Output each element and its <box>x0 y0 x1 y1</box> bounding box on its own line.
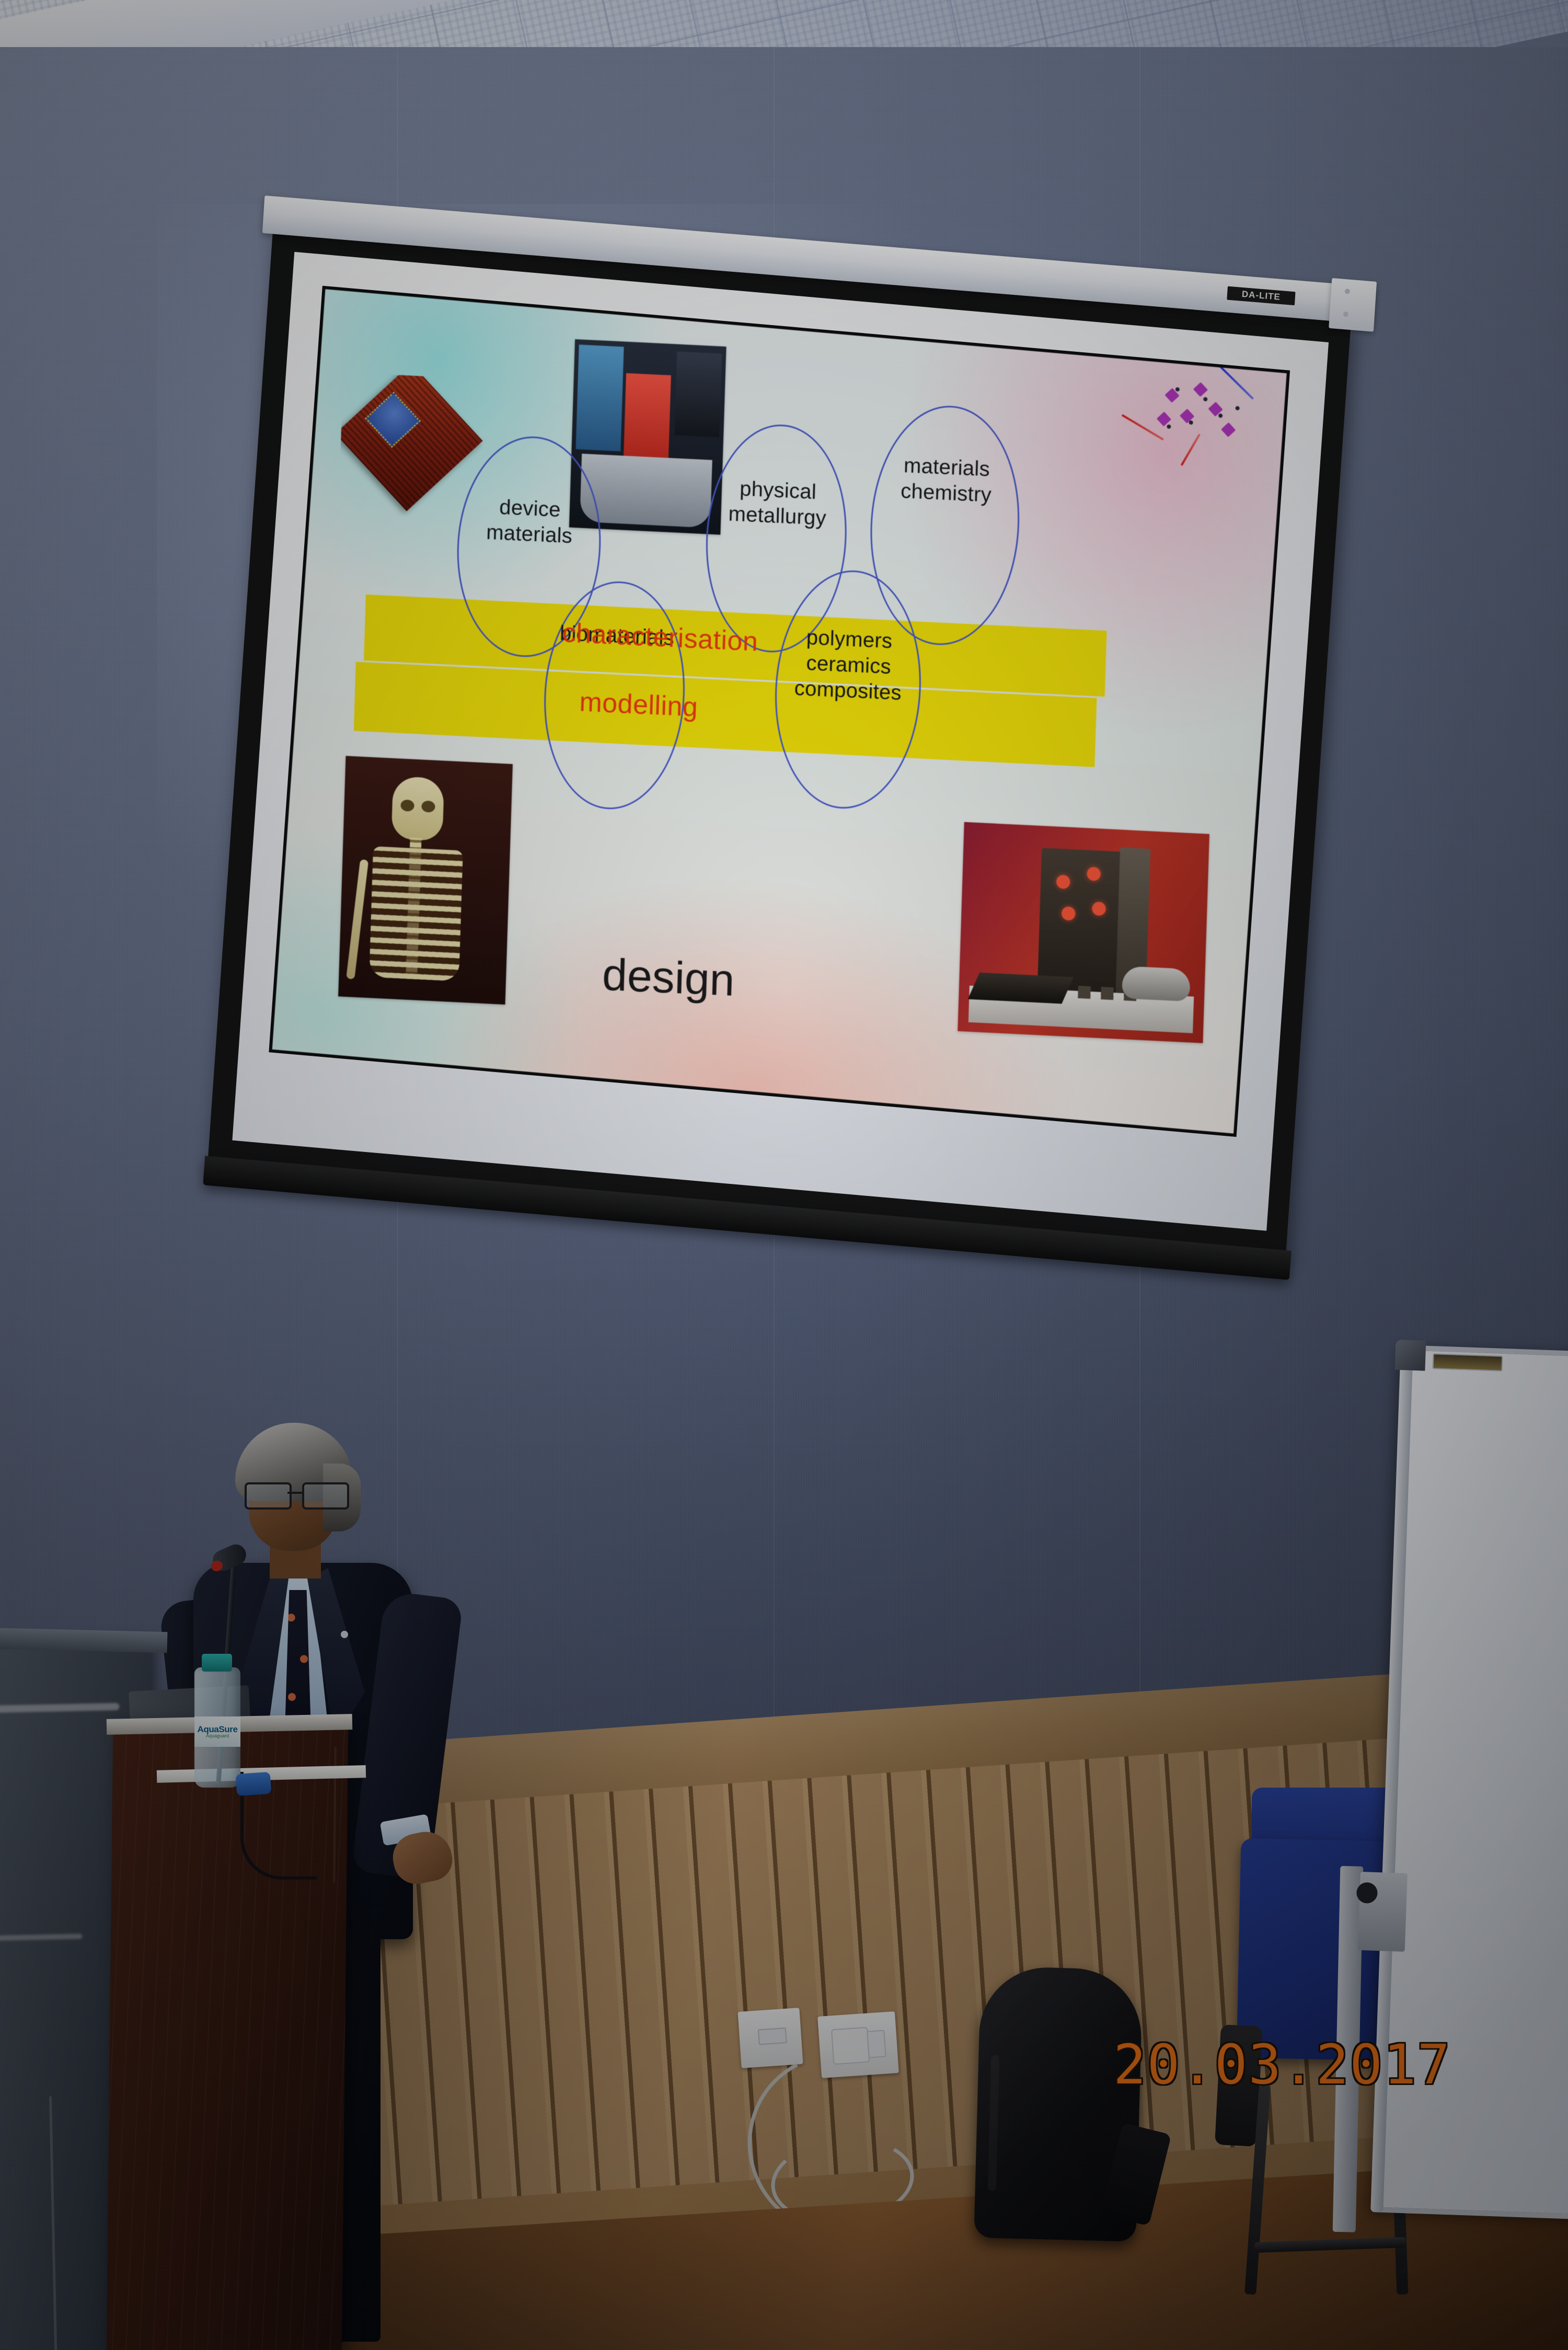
whiteboard-corner-bracket <box>1394 1340 1426 1371</box>
water-bottle-subbrand: Aquaguard <box>206 1734 229 1738</box>
projection-screen-border: device materials physical metallurgy mat… <box>208 227 1351 1254</box>
screen-brand-label: DA-LITE <box>1227 286 1295 306</box>
bubble-label-device-materials: device materials <box>464 493 595 550</box>
water-bottle-brand: AquaSure <box>197 1725 237 1734</box>
screen-housing-end-cap <box>1329 278 1377 332</box>
slide-image-desktop-computer <box>958 822 1209 1043</box>
projection-screen-assembly[interactable]: device materials physical metallurgy mat… <box>200 246 1433 1369</box>
water-bottle-label: AquaSure Aquaguard <box>194 1717 240 1747</box>
side-cabinet-top <box>0 1628 167 1653</box>
band-label-modelling: modelling <box>579 686 698 723</box>
speaker-glasses <box>245 1482 347 1505</box>
camera-date-stamp: 20.03.2017 <box>1113 2037 1451 2092</box>
slide-title-design: design <box>602 949 735 1007</box>
slide-image-skeleton <box>338 756 513 1005</box>
presentation-slide: device materials physical metallurgy mat… <box>272 289 1287 1133</box>
bubble-label-materials-chemistry: materials chemistry <box>878 452 1016 509</box>
whiteboard-hinge-clip <box>1433 1353 1503 1372</box>
blue-cable-clip <box>236 1772 272 1796</box>
lecture-hall-photograph: device materials physical metallurgy mat… <box>0 0 1568 2350</box>
slide-image-crystal-structure <box>1114 366 1263 479</box>
bubble-label-polymers-ceramics-composites: polymers ceramics composites <box>779 624 918 706</box>
projection-screen-surface: device materials physical metallurgy mat… <box>232 252 1329 1231</box>
speaker-lapel-pin <box>341 1631 348 1638</box>
wall-switch[interactable] <box>737 2008 803 2068</box>
water-bottle-cap[interactable] <box>202 1654 232 1672</box>
bubble-label-physical-metallurgy: physical metallurgy <box>712 475 843 532</box>
